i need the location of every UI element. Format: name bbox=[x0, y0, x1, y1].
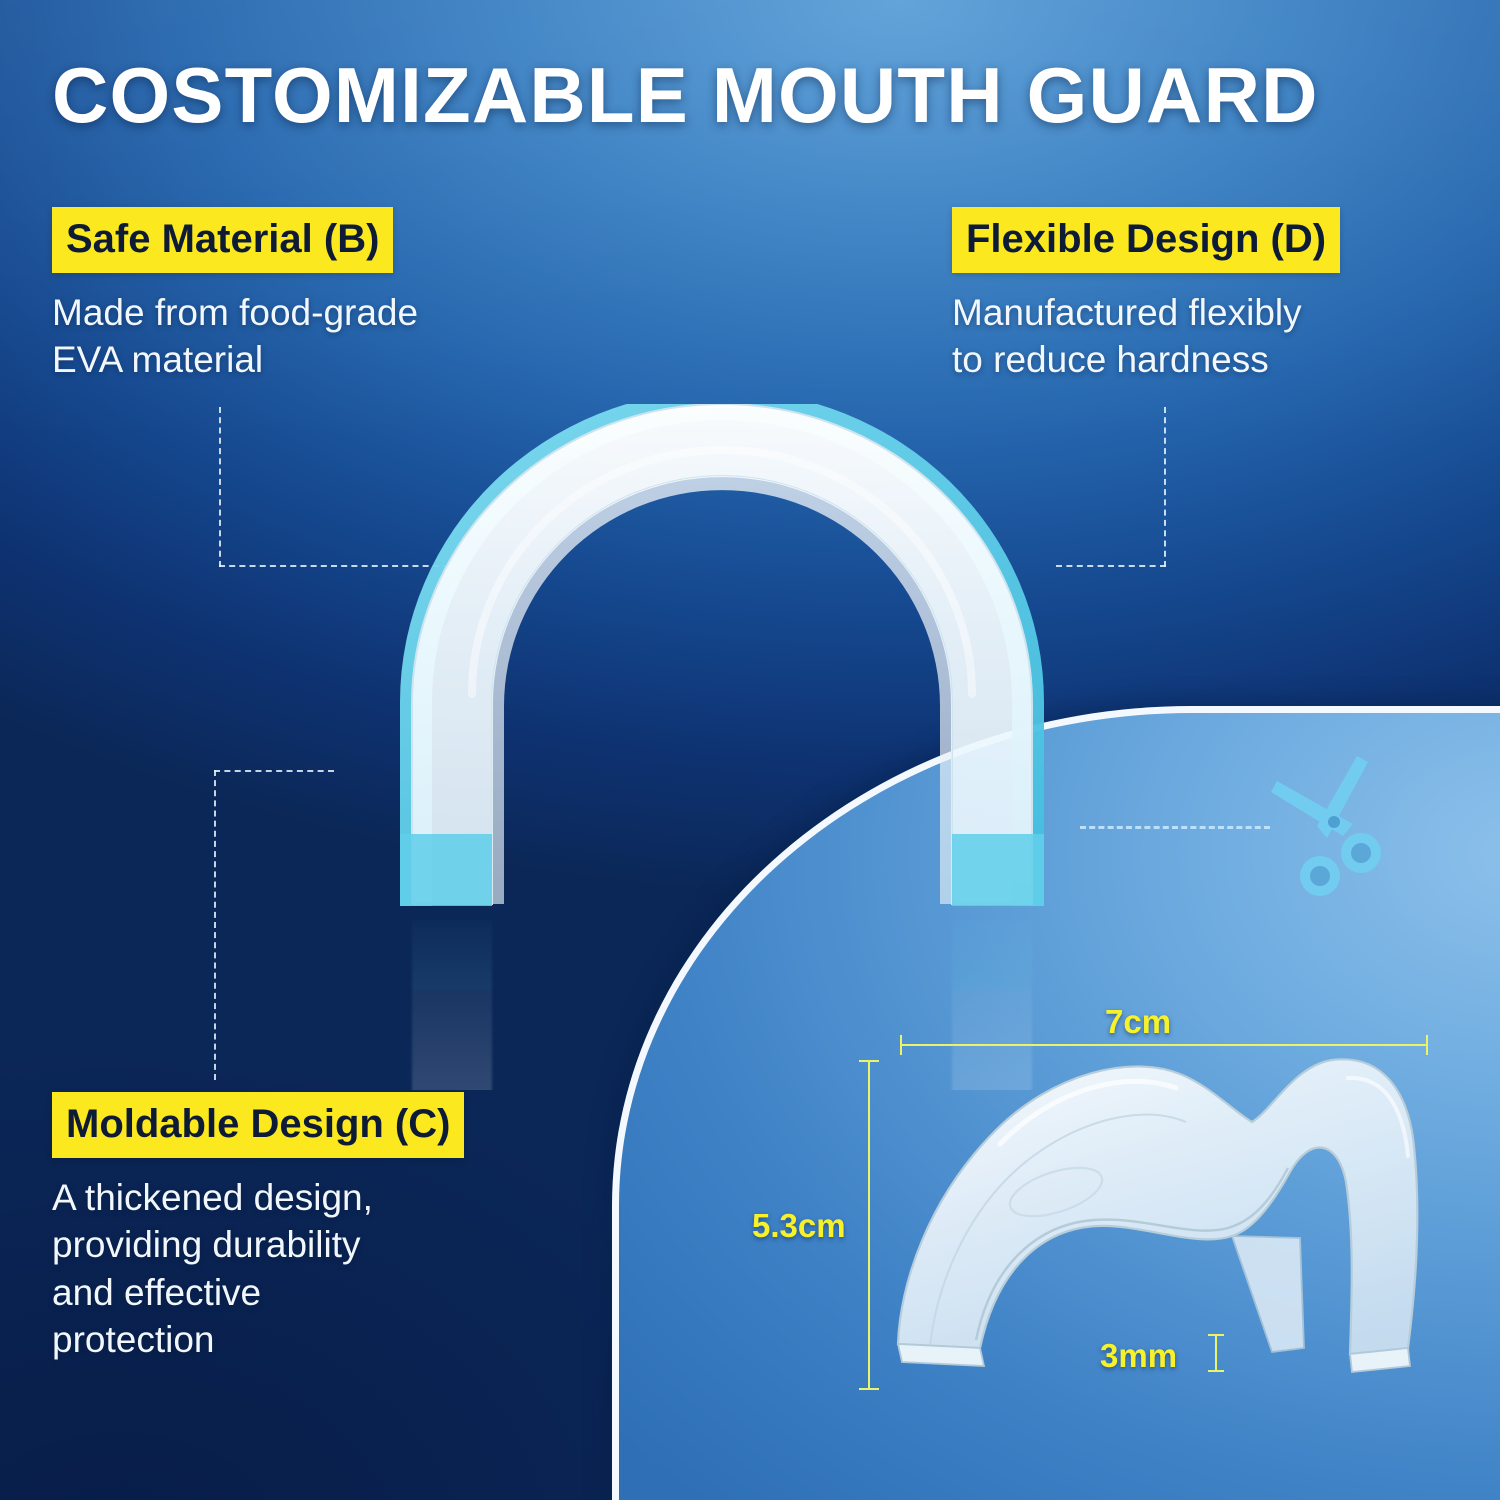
feature-safe-material: Safe Material (B) Made from food-grade E… bbox=[52, 207, 418, 384]
dimension-cap-top bbox=[1208, 1334, 1224, 1336]
dashed-cut-line bbox=[1080, 826, 1270, 829]
width-dimension-label: 7cm bbox=[1105, 1003, 1171, 1041]
dimension-cap-bottom bbox=[1208, 1370, 1224, 1372]
connector-vertical-segment bbox=[1164, 407, 1166, 567]
dimension-cap-right bbox=[1426, 1035, 1428, 1055]
connector-horizontal-segment bbox=[214, 770, 334, 772]
feature-tag-moldable-design: Moldable Design (C) bbox=[52, 1092, 464, 1158]
feature-flexible-design: Flexible Design (D) Manufactured flexibl… bbox=[952, 207, 1340, 384]
width-dimension-line bbox=[900, 1044, 1428, 1046]
feature-moldable-design: Moldable Design (C) A thickened design, … bbox=[52, 1092, 464, 1363]
dimension-cap-bottom bbox=[859, 1388, 879, 1390]
dimension-cap-left bbox=[900, 1035, 902, 1055]
mouth-guard-top-view bbox=[352, 404, 1092, 924]
mouth-guard-perspective-view bbox=[880, 1048, 1450, 1378]
height-dimension-line bbox=[868, 1060, 870, 1390]
dimension-cap-top bbox=[859, 1060, 879, 1062]
connector-vertical-segment bbox=[219, 407, 221, 567]
connector-vertical-segment bbox=[214, 770, 216, 1080]
feature-tag-flexible-design: Flexible Design (D) bbox=[952, 207, 1340, 273]
page-title: COSTOMIZABLE MOUTH GUARD bbox=[52, 56, 1462, 134]
feature-desc-safe-material: Made from food-grade EVA material bbox=[52, 289, 418, 384]
connector-moldable-design bbox=[214, 770, 334, 1080]
scissors-icon bbox=[1265, 752, 1397, 904]
feature-desc-flexible-design: Manufactured flexibly to reduce hardness bbox=[952, 289, 1340, 384]
feature-desc-moldable-design: A thickened design, providing durability… bbox=[52, 1174, 464, 1363]
thickness-dimension-label: 3mm bbox=[1100, 1337, 1177, 1375]
height-dimension-label: 5.3cm bbox=[752, 1207, 846, 1245]
thickness-dimension-line bbox=[1215, 1334, 1217, 1372]
feature-tag-safe-material: Safe Material (B) bbox=[52, 207, 393, 273]
infographic-canvas: COSTOMIZABLE MOUTH GUARD bbox=[0, 0, 1500, 1500]
